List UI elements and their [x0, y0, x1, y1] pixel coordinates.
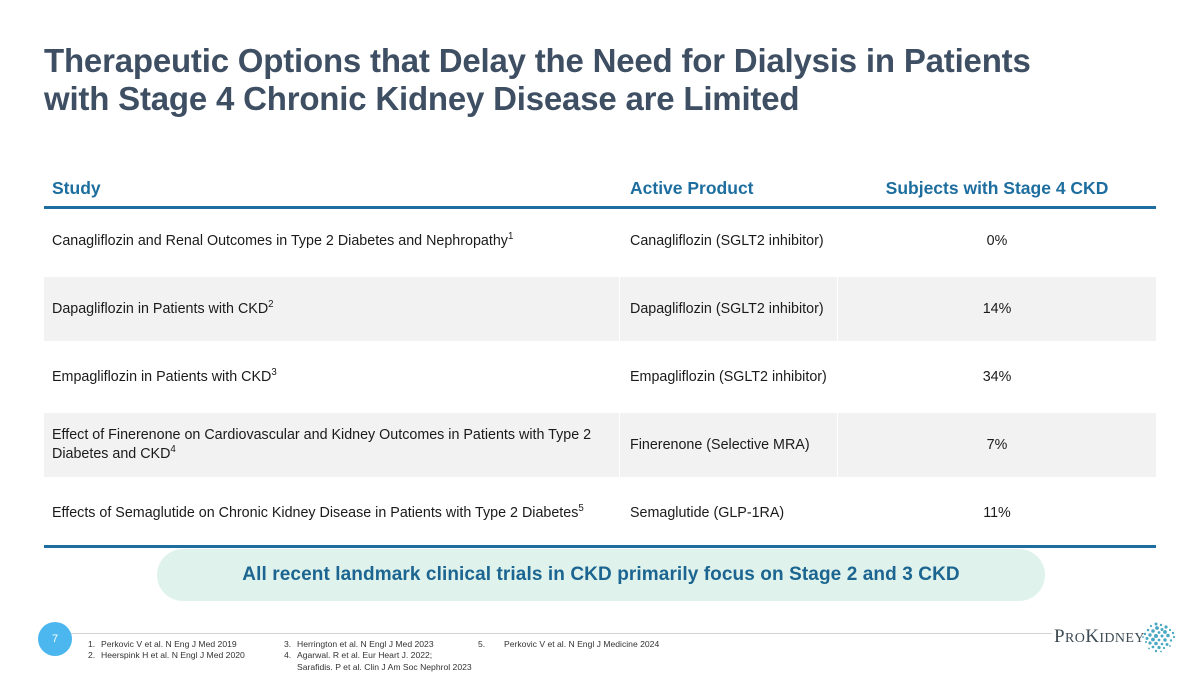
- prokidney-logo: PROKIDNEY: [1054, 622, 1178, 652]
- cell-study: Canagliflozin and Renal Outcomes in Type…: [44, 209, 620, 273]
- reference-item: 2.Heerspink H et al. N Engl J Med 2020: [88, 650, 288, 661]
- cell-percent: 7%: [838, 413, 1156, 477]
- studies-table: Study Active Product Subjects with Stage…: [44, 178, 1156, 548]
- reference-number: 5.: [478, 639, 504, 650]
- cell-study: Effects of Semaglutide on Chronic Kidney…: [44, 481, 620, 545]
- table-bottom-rule: [44, 545, 1156, 548]
- cell-percent: 34%: [838, 345, 1156, 409]
- column-header-product: Active Product: [620, 178, 838, 199]
- logo-wordmark: PROKIDNEY: [1054, 626, 1145, 648]
- callout-text: All recent landmark clinical trials in C…: [242, 564, 959, 586]
- table-row: Canagliflozin and Renal Outcomes in Type…: [44, 209, 1156, 273]
- page-number-badge: 7: [38, 622, 72, 656]
- footnote-marker: 4: [170, 444, 175, 455]
- cell-study: Effect of Finerenone on Cardiovascular a…: [44, 413, 620, 477]
- cell-product: Semaglutide (GLP-1RA): [620, 481, 838, 545]
- cell-product: Finerenone (Selective MRA): [620, 413, 838, 477]
- reference-subtext: Sarafidis. P et al. Clin J Am Soc Nephro…: [284, 662, 504, 673]
- cell-product: Dapagliflozin (SGLT2 inhibitor): [620, 277, 838, 341]
- table-row: Effect of Finerenone on Cardiovascular a…: [44, 413, 1156, 477]
- cell-percent: 11%: [838, 481, 1156, 545]
- table-body: Canagliflozin and Renal Outcomes in Type…: [44, 209, 1156, 545]
- reference-item: 3.Herrington et al. N Engl J Med 2023: [284, 639, 504, 650]
- footnote-marker: 2: [268, 299, 273, 310]
- reference-number: 1.: [88, 639, 101, 650]
- reference-number: 2.: [88, 650, 101, 661]
- reference-column-2: 3.Herrington et al. N Engl J Med 20234.A…: [284, 639, 504, 673]
- reference-text: Perkovic V et al. N Engl J Medicine 2024: [504, 639, 659, 650]
- reference-number: 3.: [284, 639, 297, 650]
- table-header-row: Study Active Product Subjects with Stage…: [44, 178, 1156, 206]
- cell-study: Dapagliflozin in Patients with CKD2: [44, 277, 620, 341]
- column-header-study: Study: [44, 178, 620, 199]
- footnote-marker: 1: [508, 231, 513, 242]
- reference-column-3: 5.Perkovic V et al. N Engl J Medicine 20…: [478, 639, 778, 650]
- cell-study: Empagliflozin in Patients with CKD3: [44, 345, 620, 409]
- footnote-marker: 3: [271, 367, 276, 378]
- kidney-dots-icon: [1136, 621, 1178, 653]
- table-row: Effects of Semaglutide on Chronic Kidney…: [44, 481, 1156, 545]
- reference-column-1: 1.Perkovic V et al. N Eng J Med 20192.He…: [88, 639, 288, 662]
- table-row: Dapagliflozin in Patients with CKD2Dapag…: [44, 277, 1156, 341]
- cell-percent: 14%: [838, 277, 1156, 341]
- cell-percent: 0%: [838, 209, 1156, 273]
- callout-banner: All recent landmark clinical trials in C…: [157, 549, 1045, 601]
- reference-item: 4.Agarwal. R et al. Eur Heart J. 2022;: [284, 650, 504, 661]
- reference-item: 1.Perkovic V et al. N Eng J Med 2019: [88, 639, 288, 650]
- reference-number: 4.: [284, 650, 297, 661]
- reference-text: Agarwal. R et al. Eur Heart J. 2022;: [297, 650, 432, 661]
- reference-item: 5.Perkovic V et al. N Engl J Medicine 20…: [478, 639, 778, 650]
- column-header-percent: Subjects with Stage 4 CKD: [838, 178, 1156, 199]
- footnote-marker: 5: [578, 503, 583, 514]
- footer-divider: [66, 633, 1052, 634]
- reference-text: Heerspink H et al. N Engl J Med 2020: [101, 650, 245, 661]
- cell-product: Canagliflozin (SGLT2 inhibitor): [620, 209, 838, 273]
- reference-text: Herrington et al. N Engl J Med 2023: [297, 639, 434, 650]
- page-title: Therapeutic Options that Delay the Need …: [44, 42, 1074, 118]
- table-row: Empagliflozin in Patients with CKD3Empag…: [44, 345, 1156, 409]
- cell-product: Empagliflozin (SGLT2 inhibitor): [620, 345, 838, 409]
- reference-text: Perkovic V et al. N Eng J Med 2019: [101, 639, 237, 650]
